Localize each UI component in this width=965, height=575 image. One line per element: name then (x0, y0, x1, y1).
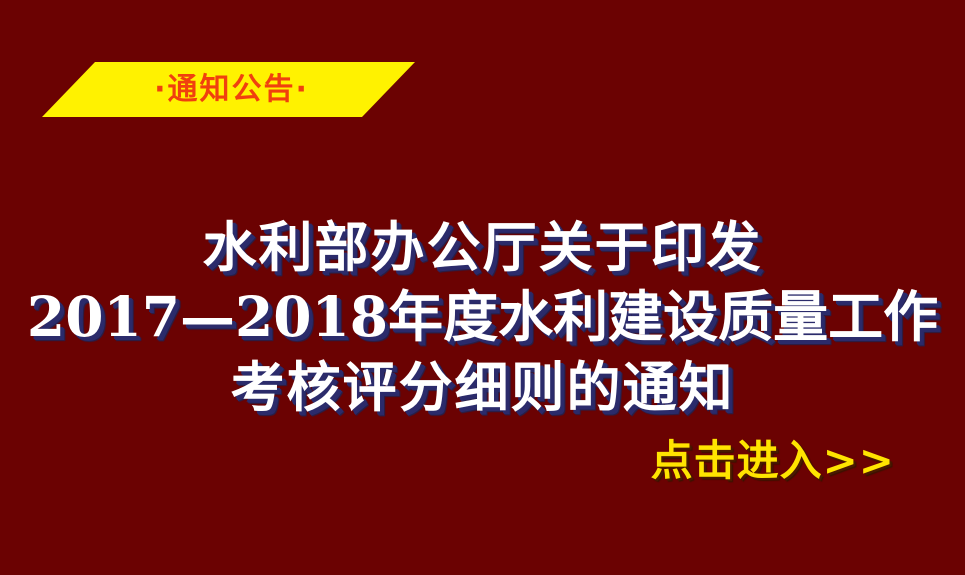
notice-category-ribbon[interactable]: ·通知公告· (42, 62, 415, 117)
notice-poster: ·通知公告· 水利部办公厅关于印发 2017—2018年度水利建设质量工作 考核… (0, 0, 965, 575)
enter-link[interactable]: 点击进入>> (651, 436, 895, 486)
notice-title-line-3: 考核评分细则的通知 (0, 352, 965, 422)
notice-cta-container: 点击进入>> (0, 436, 965, 486)
notice-title-line-1: 水利部办公厅关于印发 (0, 212, 965, 282)
notice-category-label: ·通知公告· (148, 75, 309, 105)
notice-title-line-2: 2017—2018年度水利建设质量工作 (0, 282, 965, 352)
notice-title: 水利部办公厅关于印发 2017—2018年度水利建设质量工作 考核评分细则的通知 (0, 212, 965, 422)
